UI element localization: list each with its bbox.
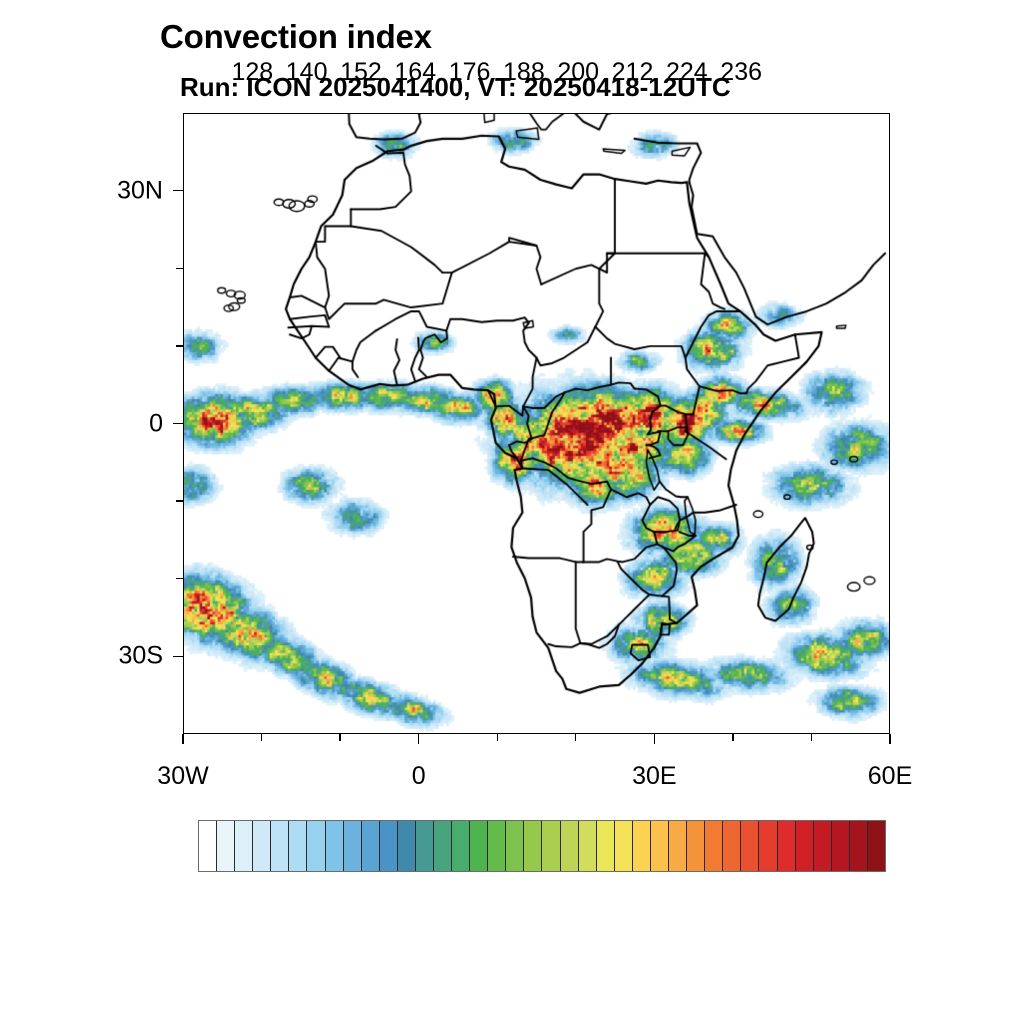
colorbar-cell <box>470 821 488 871</box>
colorbar-cell <box>362 821 380 871</box>
colorbar-cell <box>723 821 741 871</box>
y-axis-tick-label: 30N <box>8 176 163 205</box>
colorbar-tick-label: 200 <box>557 58 599 87</box>
colorbar-cell <box>759 821 777 871</box>
colorbar-tick-label: 212 <box>612 58 654 87</box>
x-axis-tick-major <box>182 734 184 744</box>
map-panel[interactable] <box>183 113 890 734</box>
colorbar-cell <box>597 821 615 871</box>
colorbar-cell <box>434 821 452 871</box>
colorbar-cell <box>524 821 542 871</box>
colorbar-cell <box>868 821 885 871</box>
colorbar-cell <box>326 821 344 871</box>
y-axis-tick-minor <box>176 268 183 269</box>
colorbar-cell <box>271 821 289 871</box>
colorbar-cells <box>198 820 886 872</box>
colorbar-cell <box>217 821 235 871</box>
colorbar-tick-label: 236 <box>720 58 762 87</box>
colorbar-tick-label: 176 <box>449 58 491 87</box>
y-axis-tick-minor <box>176 500 183 501</box>
colorbar-cell <box>796 821 814 871</box>
colorbar-cell <box>380 821 398 871</box>
y-axis-tick-major <box>173 190 183 192</box>
colorbar-cell <box>832 821 850 871</box>
colorbar-cell <box>289 821 307 871</box>
colorbar-cell <box>651 821 669 871</box>
colorbar-cell <box>615 821 633 871</box>
y-axis-tick-major <box>173 423 183 425</box>
colorbar-cell <box>633 821 651 871</box>
colorbar-cell <box>452 821 470 871</box>
y-axis-tick-label: 30S <box>8 642 163 671</box>
colorbar-cell <box>687 821 705 871</box>
colorbar-tick-label: 188 <box>503 58 545 87</box>
colorbar-cell <box>506 821 524 871</box>
colorbar-tick-label: 224 <box>666 58 708 87</box>
x-axis-tick-minor <box>811 734 812 741</box>
x-axis-tick-minor <box>261 734 262 741</box>
colorbar-tick-label: 152 <box>340 58 382 87</box>
y-axis-tick-major <box>173 656 183 658</box>
colorbar-cell <box>307 821 325 871</box>
colorbar-cell <box>344 821 362 871</box>
map-raster-canvas <box>184 114 889 733</box>
colorbar-tick-label: 128 <box>231 58 273 87</box>
colorbar-cell <box>199 821 217 871</box>
colorbar-cell <box>579 821 597 871</box>
page-title: Convection index <box>160 18 432 56</box>
colorbar-cell <box>669 821 687 871</box>
colorbar-cell <box>705 821 723 871</box>
colorbar-cell <box>488 821 506 871</box>
y-axis-tick-label: 0 <box>8 409 163 438</box>
x-axis-tick-label: 30W <box>157 762 208 791</box>
x-axis-tick-minor <box>339 734 340 741</box>
colorbar-tick-label: 164 <box>394 58 436 87</box>
colorbar-cell <box>814 821 832 871</box>
convection-index-figure: Convection index Run: ICON 2025041400, V… <box>0 0 1024 1024</box>
colorbar[interactable] <box>198 820 886 872</box>
x-axis-tick-minor <box>732 734 733 741</box>
x-axis-tick-label: 30E <box>632 762 676 791</box>
colorbar-cell <box>778 821 796 871</box>
colorbar-cell <box>850 821 868 871</box>
y-axis-tick-minor <box>176 345 183 346</box>
x-axis-tick-major <box>418 734 420 744</box>
colorbar-cell <box>398 821 416 871</box>
colorbar-cell <box>741 821 759 871</box>
colorbar-tick-label: 140 <box>286 58 328 87</box>
colorbar-cell <box>561 821 579 871</box>
colorbar-cell <box>235 821 253 871</box>
x-axis-tick-major <box>889 734 891 744</box>
x-axis-tick-minor <box>497 734 498 741</box>
x-axis-tick-label: 0 <box>412 762 426 791</box>
x-axis-tick-minor <box>575 734 576 741</box>
colorbar-cell <box>253 821 271 871</box>
colorbar-cell <box>416 821 434 871</box>
y-axis-tick-minor <box>176 578 183 579</box>
x-axis-tick-label: 60E <box>868 762 912 791</box>
x-axis-tick-major <box>654 734 656 744</box>
colorbar-cell <box>542 821 560 871</box>
